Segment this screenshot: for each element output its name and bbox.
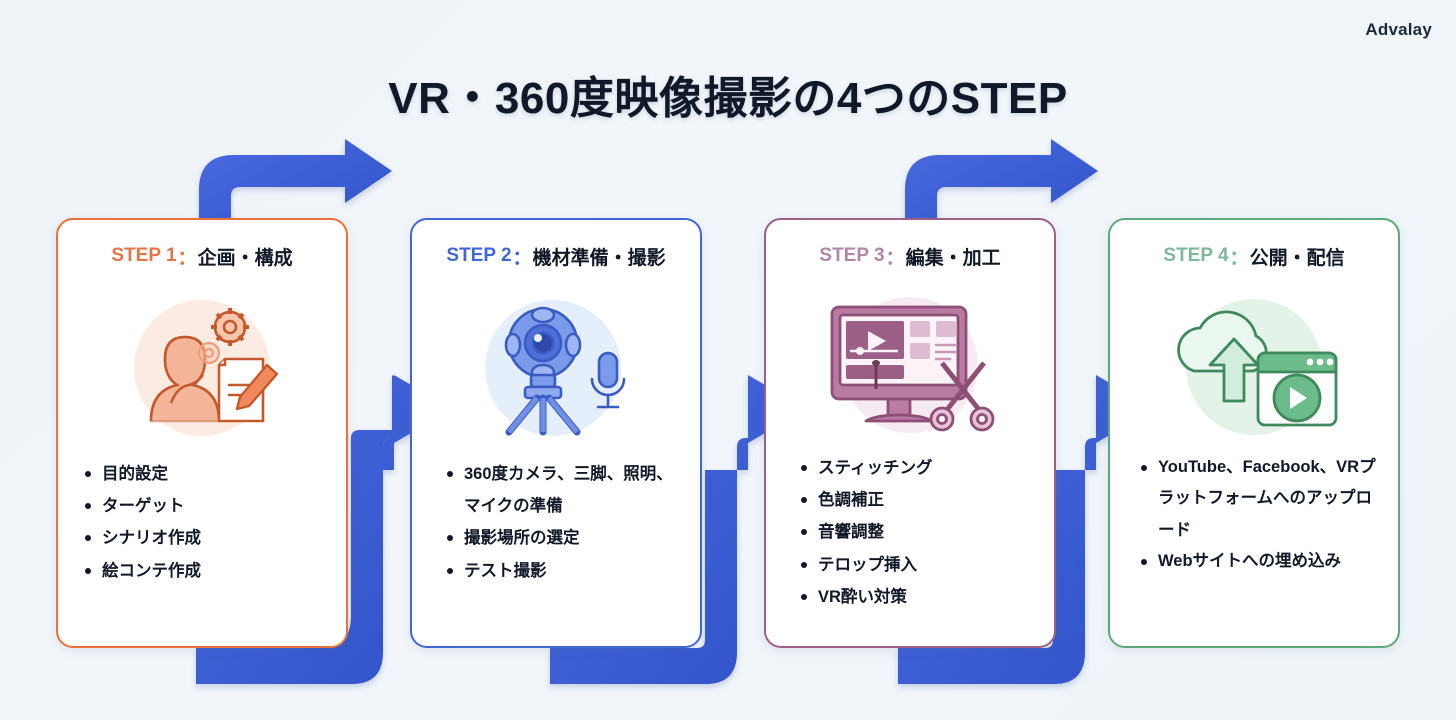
list-item: Webサイトへの埋め込み	[1158, 546, 1388, 577]
step-2-separator: ：	[513, 243, 532, 270]
list-item: テスト撮影	[464, 555, 686, 587]
step-4-separator: ：	[1230, 243, 1249, 270]
step-3-title: 編集・加工	[906, 243, 1001, 270]
infographic-stage: Advalay VR・360度映像撮影の4つのSTEP	[0, 0, 1456, 720]
list-item: スティッチング	[818, 452, 1040, 484]
list-item: YouTube、Facebook、VRプラットフォームへのアップロード	[1158, 452, 1388, 546]
step-1-separator: ：	[178, 243, 197, 270]
step-2-title: 機材準備・撮影	[533, 243, 666, 270]
step-4-number: STEP 4	[1163, 245, 1228, 267]
step-2-icon-wrap	[412, 288, 700, 448]
list-item: 360度カメラ、三脚、照明、マイクの準備	[464, 458, 686, 522]
list-item: VR酔い対策	[818, 581, 1040, 613]
list-item: シナリオ作成	[102, 522, 332, 554]
step-2-bullets: 360度カメラ、三脚、照明、マイクの準備 撮影場所の選定 テスト撮影	[438, 458, 686, 587]
step-1-icon-wrap	[58, 288, 346, 448]
step-3-number: STEP 3	[819, 245, 884, 267]
cloud-upload-browser-play-icon	[1162, 293, 1347, 443]
step-4-header: STEP 4 ： 公開・配信	[1110, 220, 1398, 292]
step-3-header: STEP 3 ： 編集・加工	[766, 220, 1054, 292]
step-1-title: 企画・構成	[198, 243, 293, 270]
person-thinking-gears-document-icon	[117, 293, 287, 443]
step-card-4[interactable]: STEP 4 ： 公開・配信	[1108, 218, 1400, 648]
list-item: 撮影場所の選定	[464, 522, 686, 554]
step-1-number: STEP 1	[111, 245, 176, 267]
step-3-icon-wrap	[766, 288, 1054, 448]
step-2-number: STEP 2	[446, 245, 511, 267]
list-item: ターゲット	[102, 490, 332, 522]
brand-logo: Advalay	[1365, 20, 1432, 40]
list-item: 目的設定	[102, 458, 332, 490]
camera-360-tripod-microphone-icon	[471, 293, 641, 443]
step-1-bullets: 目的設定 ターゲット シナリオ作成 絵コンテ作成	[76, 458, 332, 587]
step-1-header: STEP 1 ： 企画・構成	[58, 220, 346, 292]
step-4-icon-wrap	[1110, 288, 1398, 448]
step-3-separator: ：	[886, 243, 905, 270]
step-card-3[interactable]: STEP 3 ： 編集・加工	[764, 218, 1056, 648]
page-title: VR・360度映像撮影の4つのSTEP	[0, 62, 1456, 126]
list-item: 絵コンテ作成	[102, 555, 332, 587]
step-3-bullets: スティッチング 色調補正 音響調整 テロップ挿入 VR酔い対策	[792, 452, 1040, 613]
list-item: テロップ挿入	[818, 549, 1040, 581]
step-card-1[interactable]: STEP 1 ： 企画・構成	[56, 218, 348, 648]
step-2-header: STEP 2 ： 機材準備・撮影	[412, 220, 700, 292]
list-item: 音響調整	[818, 516, 1040, 548]
monitor-video-editor-scissors-icon	[818, 293, 1003, 443]
list-item: 色調補正	[818, 484, 1040, 516]
step-4-bullets: YouTube、Facebook、VRプラットフォームへのアップロード Webサ…	[1132, 452, 1388, 577]
step-card-2[interactable]: STEP 2 ： 機材準備・撮影	[410, 218, 702, 648]
step-4-title: 公開・配信	[1250, 243, 1345, 270]
